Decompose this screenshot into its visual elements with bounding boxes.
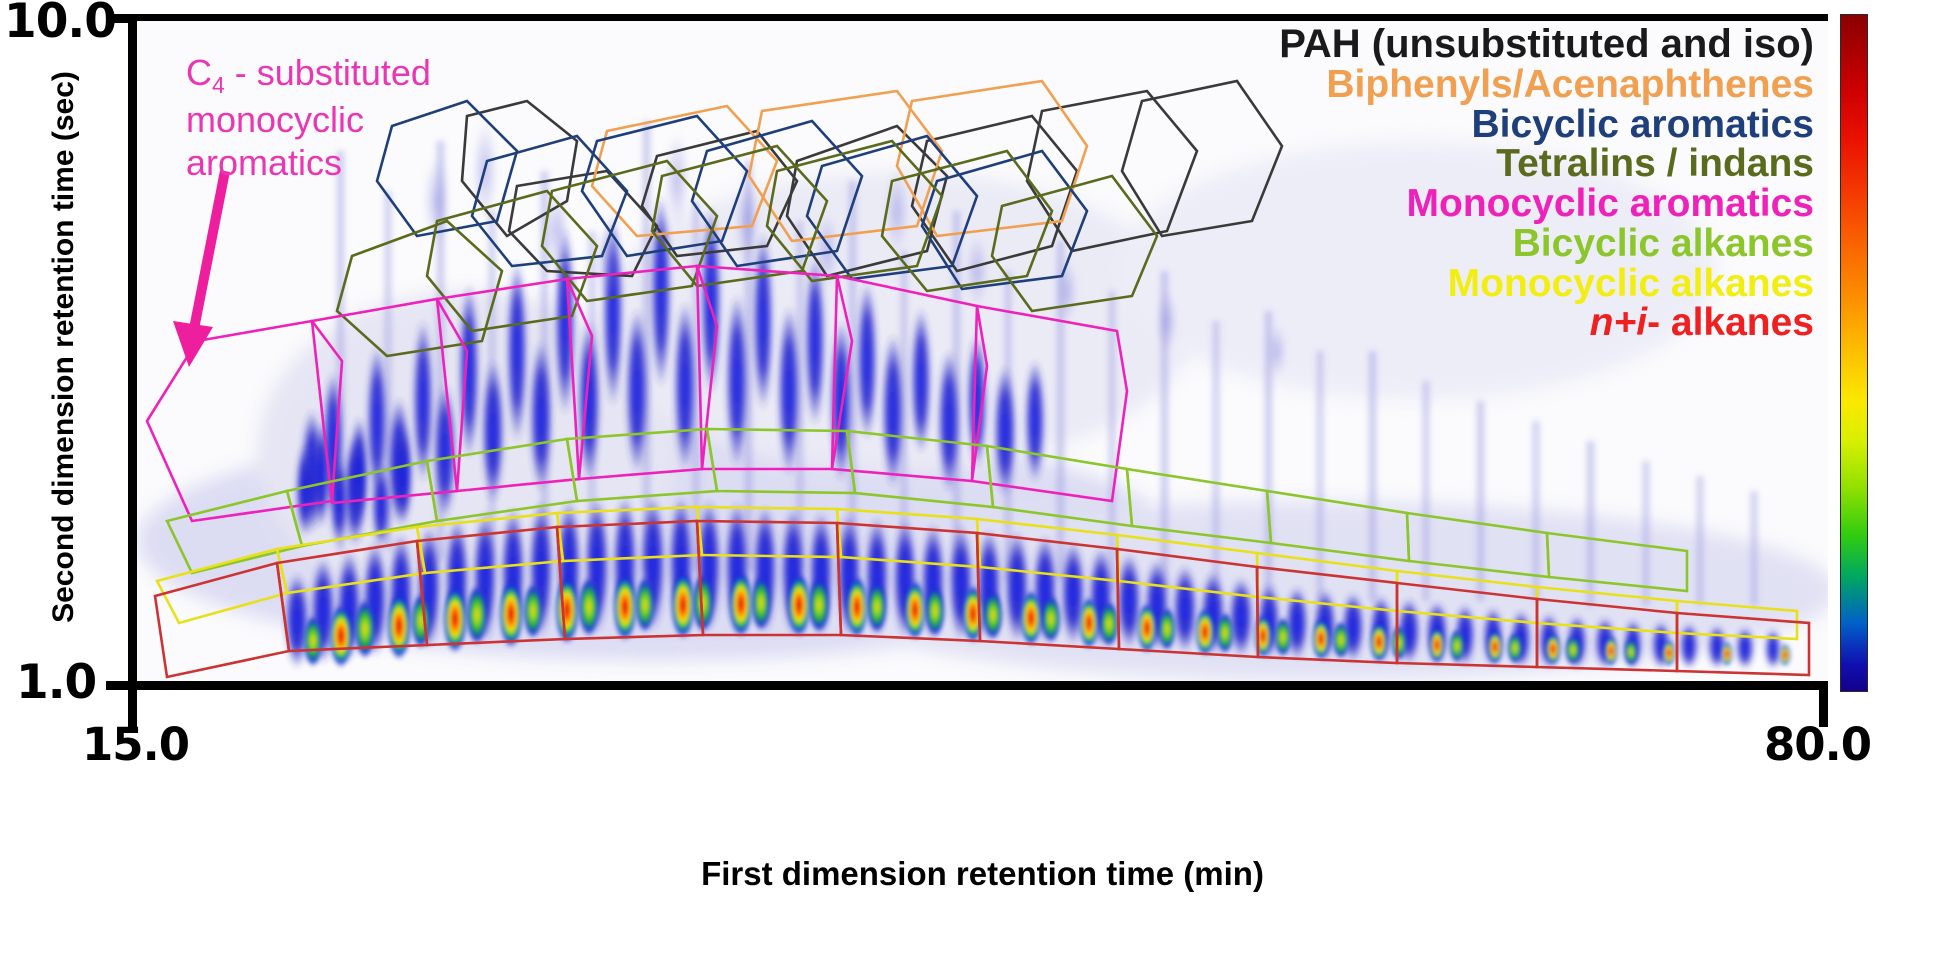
legend-entry-7-text: - alkanes <box>1647 301 1814 344</box>
x-axis-line <box>128 681 1828 690</box>
y-axis-line <box>128 14 137 686</box>
legend-entry-5[interactable]: Bicyclic alkanes <box>1000 224 1814 264</box>
y-axis-min-label: 1.0 <box>16 655 96 710</box>
legend: PAH (unsubstituted and iso)Biphenyls/Ace… <box>1000 24 1814 343</box>
c4-annotation: C4 - substituted monocyclic aromatics <box>186 52 496 184</box>
x-axis-max-label: 80.0 <box>1764 718 1871 771</box>
legend-entry-3[interactable]: Tetralins / indans <box>1000 144 1814 184</box>
y-axis-title: Second dimension retention time (sec) <box>47 37 81 657</box>
plot-top-border <box>137 14 1828 21</box>
intensity-colorbar[interactable] <box>1840 14 1868 692</box>
legend-entry-2[interactable]: Bicyclic aromatics <box>1000 105 1814 145</box>
legend-entry-7[interactable]: n+i- alkanes <box>1000 303 1814 343</box>
c4-annotation-subscript: 4 <box>212 72 225 98</box>
c4-annotation-line1: C4 - substituted <box>186 52 496 99</box>
legend-entry-7-italic: n+i <box>1590 301 1647 344</box>
legend-entry-6[interactable]: Monocyclic alkanes <box>1000 264 1814 304</box>
legend-entry-4[interactable]: Monocyclic aromatics <box>1000 184 1814 224</box>
x-axis-title: First dimension retention time (min) <box>137 855 1828 893</box>
chromatogram-figure: 10.0 1.0 15.0 80.0 Second dimension rete… <box>0 0 1959 966</box>
c4-annotation-suffix: - substituted <box>225 52 431 93</box>
legend-entry-1[interactable]: Biphenyls/Acenaphthenes <box>1000 65 1814 105</box>
c4-annotation-line3: aromatics <box>186 142 496 184</box>
legend-entry-0[interactable]: PAH (unsubstituted and iso) <box>1000 24 1814 65</box>
c4-annotation-c: C <box>186 52 212 93</box>
x-axis-min-label: 15.0 <box>82 718 189 771</box>
c4-annotation-line2: monocyclic <box>186 99 496 141</box>
